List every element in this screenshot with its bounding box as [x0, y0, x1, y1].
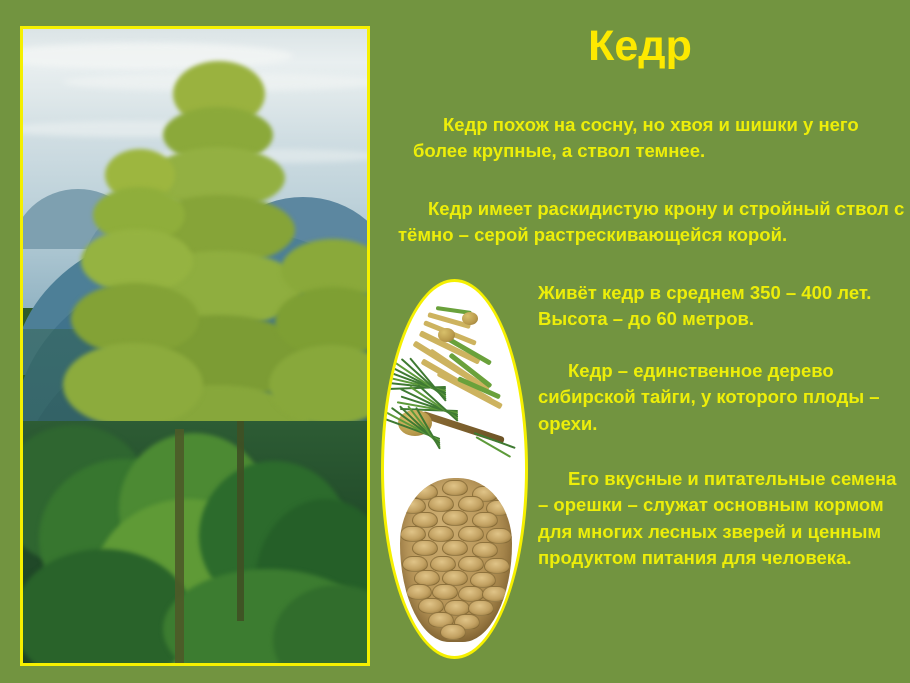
paragraph-crown-trunk: Кедр имеет раскидистую крону и стройный …: [398, 196, 906, 249]
cedar-cone-and-needles-photo: [384, 282, 525, 656]
paragraph-appearance: Кедр похож на сосну, но хвоя и шишки у н…: [413, 112, 905, 165]
cone-scale: [458, 556, 484, 572]
cone-scale: [440, 624, 466, 640]
cone-scale: [442, 480, 468, 496]
cone-scale: [442, 540, 468, 556]
tree-trunk: [237, 421, 244, 621]
male-cone: [462, 312, 478, 325]
male-cone: [438, 328, 455, 342]
oval-photo-frame[interactable]: [381, 279, 528, 659]
left-photo-frame[interactable]: [20, 26, 370, 666]
tree-crown: [63, 343, 203, 427]
cone-scale: [442, 510, 468, 526]
slide: Кедр: [0, 0, 910, 683]
paragraph-lifespan-height: Живёт кедр в среднем 350 – 400 лет. Высо…: [538, 280, 910, 333]
cone-scale: [458, 526, 484, 542]
paragraph-seeds-food: Его вкусные и питательные семена – орешк…: [538, 466, 910, 571]
cone-scale: [458, 496, 484, 512]
tree-trunk: [175, 429, 184, 663]
cedar-cone: [400, 478, 512, 642]
cone-scale: [412, 540, 438, 556]
siberian-cedar-forest-photo: [23, 29, 367, 663]
paragraph-unique-tree: Кедр – единственное дерево сибирской тай…: [538, 358, 910, 437]
page-title: Кедр: [390, 24, 890, 69]
